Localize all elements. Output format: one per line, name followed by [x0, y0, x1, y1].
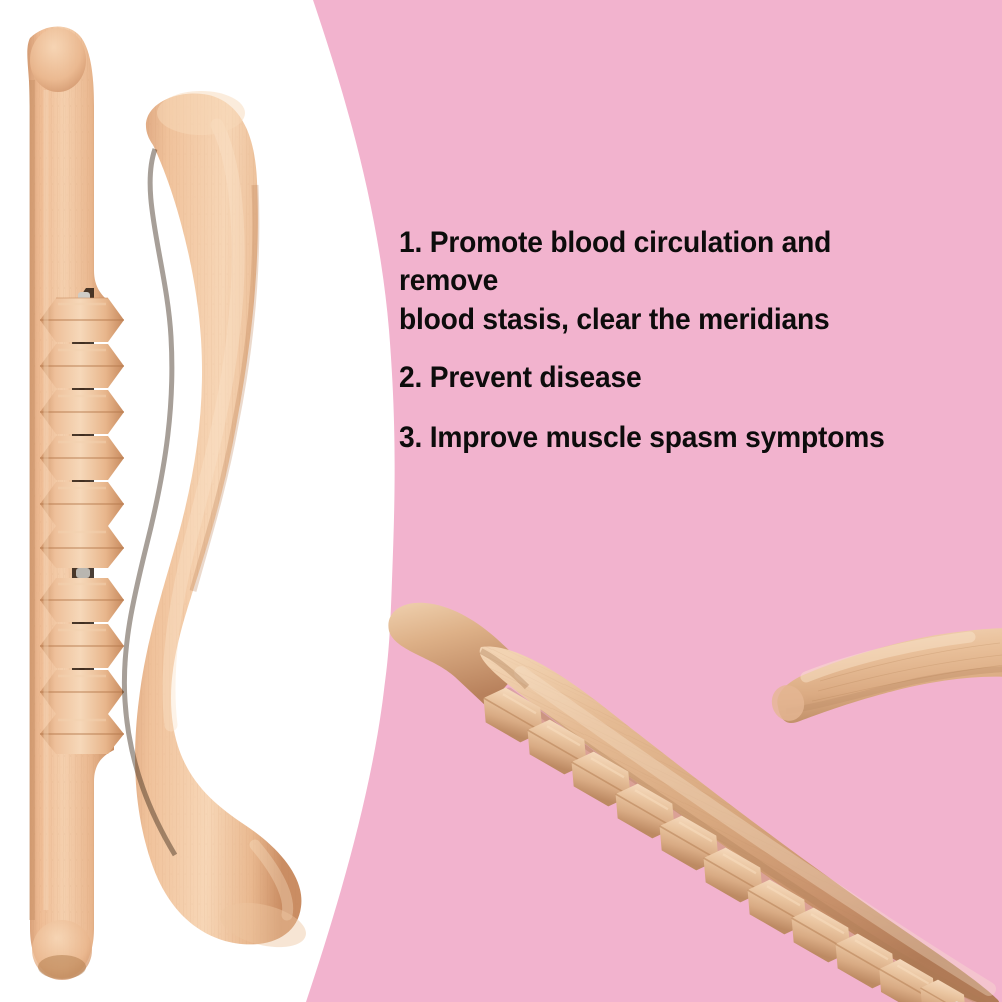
wooden-gua-sha-board — [105, 85, 385, 975]
benefits-list: 1. Promote blood circulation and remove … — [399, 224, 959, 458]
product-infographic: 1. Promote blood circulation and remove … — [0, 0, 1002, 1002]
benefit-item-3: 3. Improve muscle spasm symptoms — [399, 419, 934, 457]
benefit-item-1: 1. Promote blood circulation and remove … — [399, 224, 934, 339]
benefit-item-2: 2. Prevent disease — [399, 359, 934, 397]
wooden-roller-massager-closeup — [385, 595, 1002, 1002]
